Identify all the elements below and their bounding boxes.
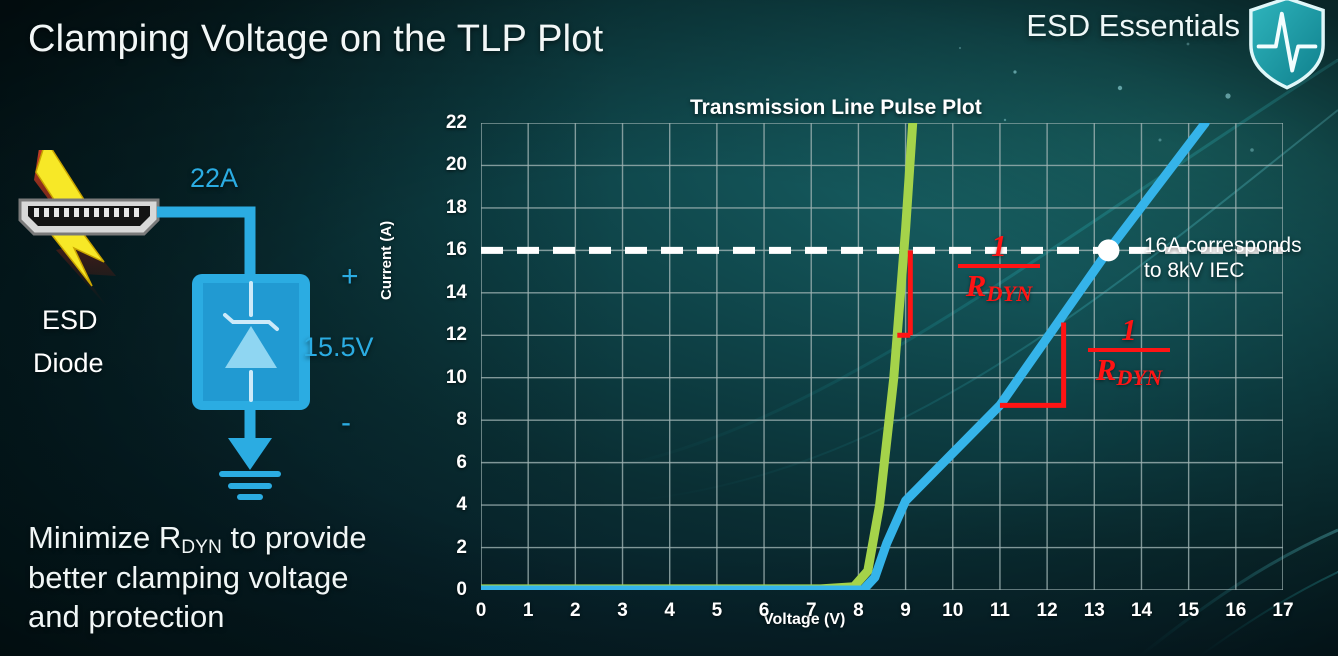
- slope-green-denominator: RDYN: [958, 270, 1040, 301]
- x-tick-label: 11: [990, 600, 1010, 622]
- y-tick-label: 4: [420, 494, 467, 516]
- x-tick-label: 0: [476, 600, 487, 622]
- x-tick-label: 9: [900, 600, 911, 622]
- slope-annotation-blue: 1 RDYN: [1088, 314, 1170, 385]
- x-tick-label: 14: [1131, 600, 1152, 622]
- hdmi-connector-icon: [20, 200, 158, 234]
- x-tick-label: 7: [806, 600, 817, 622]
- y-tick-label: 12: [420, 324, 467, 346]
- polarity-plus-label: +: [341, 260, 359, 294]
- y-tick-label: 8: [420, 409, 467, 431]
- body-copy-line1-sub: DYN: [181, 537, 222, 558]
- series-line-low-rdyn-device: [481, 123, 913, 589]
- x-tick-label: 17: [1272, 600, 1293, 622]
- x-tick-label: 5: [712, 600, 723, 622]
- y-tick-label: 0: [420, 579, 467, 601]
- slope-green-numerator: 1: [958, 230, 1040, 261]
- esd-circuit-diagram: 22A 15.5V + - ESD Diode: [0, 150, 430, 510]
- threshold-callout-line1: 16A corresponds: [1144, 234, 1334, 259]
- body-copy-line1-post: to provide: [222, 520, 367, 555]
- body-copy: Minimize RDYN to provide better clamping…: [28, 518, 448, 637]
- threshold-callout-line2: to 8kV IEC: [1144, 259, 1334, 284]
- x-tick-label: 15: [1178, 600, 1199, 622]
- y-tick-label: 2: [420, 537, 467, 559]
- component-label-line2: Diode: [33, 348, 104, 379]
- chart-title: Transmission Line Pulse Plot: [690, 96, 982, 120]
- x-tick-label: 6: [759, 600, 770, 622]
- x-tick-label: 10: [942, 600, 963, 622]
- threshold-marker-point: [1097, 239, 1119, 261]
- y-tick-label: 20: [420, 154, 467, 176]
- polarity-minus-label: -: [341, 406, 351, 440]
- brand-label: ESD Essentials: [1026, 8, 1240, 44]
- ground-symbol-icon: [222, 474, 278, 497]
- slide-canvas: Clamping Voltage on the TLP Plot ESD Ess…: [0, 0, 1338, 656]
- x-tick-label: 1: [523, 600, 534, 622]
- chart-xlabel: Voltage (V): [763, 611, 845, 629]
- body-copy-line3: and protection: [28, 597, 448, 637]
- y-tick-label: 6: [420, 452, 467, 474]
- x-tick-label: 16: [1225, 600, 1246, 622]
- y-tick-label: 18: [420, 197, 467, 219]
- slope-blue-numerator: 1: [1088, 314, 1170, 345]
- body-copy-line1-pre: Minimize R: [28, 520, 181, 555]
- tlp-chart: Transmission Line Pulse Plot Current (A)…: [420, 92, 1338, 656]
- shield-pulse-icon: [1244, 0, 1330, 92]
- page-title: Clamping Voltage on the TLP Plot: [28, 18, 603, 61]
- x-tick-label: 2: [570, 600, 581, 622]
- y-tick-label: 16: [420, 239, 467, 261]
- y-tick-label: 14: [420, 282, 467, 304]
- body-copy-line2: better clamping voltage: [28, 558, 448, 598]
- x-tick-label: 4: [664, 600, 675, 622]
- y-tick-label: 10: [420, 367, 467, 389]
- y-tick-label: 22: [420, 112, 467, 134]
- circuit-voltage-label: 15.5V: [303, 332, 374, 363]
- x-tick-label: 12: [1037, 600, 1058, 622]
- threshold-callout: 16A corresponds to 8kV IEC: [1144, 234, 1334, 284]
- x-tick-label: 13: [1084, 600, 1105, 622]
- body-copy-line1: Minimize RDYN to provide: [28, 518, 448, 558]
- x-tick-label: 3: [617, 600, 628, 622]
- chart-ylabel: Current (A): [378, 221, 395, 300]
- slope-blue-denominator: RDYN: [1088, 354, 1170, 385]
- component-label-line1: ESD: [42, 305, 98, 336]
- x-tick-label: 8: [853, 600, 864, 622]
- slope-annotation-green: 1 RDYN: [958, 230, 1040, 301]
- circuit-current-label: 22A: [190, 163, 238, 194]
